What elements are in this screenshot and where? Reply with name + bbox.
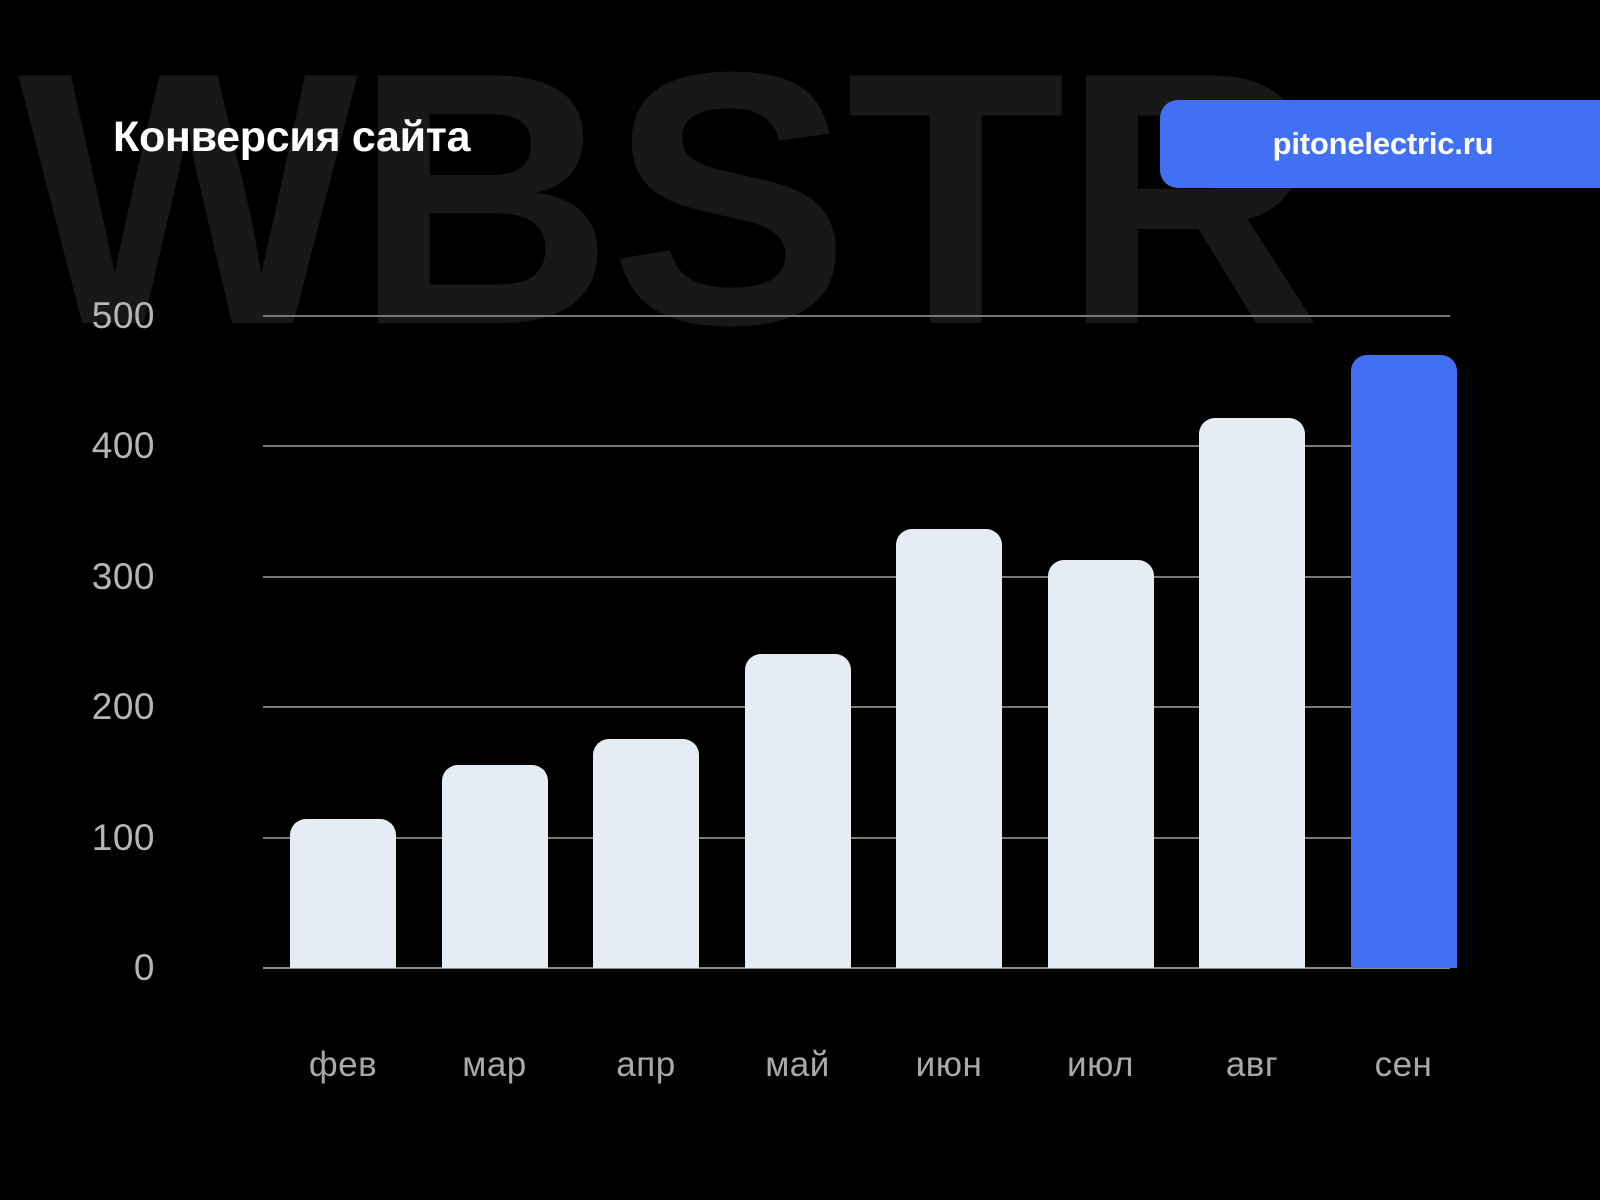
x-axis-label-фев: фев bbox=[263, 1045, 423, 1085]
site-url-badge: pitonelectric.ru bbox=[1160, 100, 1600, 188]
x-axis-label-сен: сен bbox=[1324, 1045, 1484, 1085]
page-title: Конверсия сайта bbox=[113, 113, 470, 162]
x-axis-label-май: май bbox=[718, 1045, 878, 1085]
x-axis-label-апр: апр bbox=[566, 1045, 726, 1085]
x-axis-label-авг: авг bbox=[1172, 1045, 1332, 1085]
x-axis-label-июл: июл bbox=[1021, 1045, 1181, 1085]
chart-header: Конверсия сайта pitonelectric.ru bbox=[0, 0, 1600, 230]
x-axis-label-июн: июн bbox=[869, 1045, 1029, 1085]
x-axis-label-мар: мар bbox=[415, 1045, 575, 1085]
